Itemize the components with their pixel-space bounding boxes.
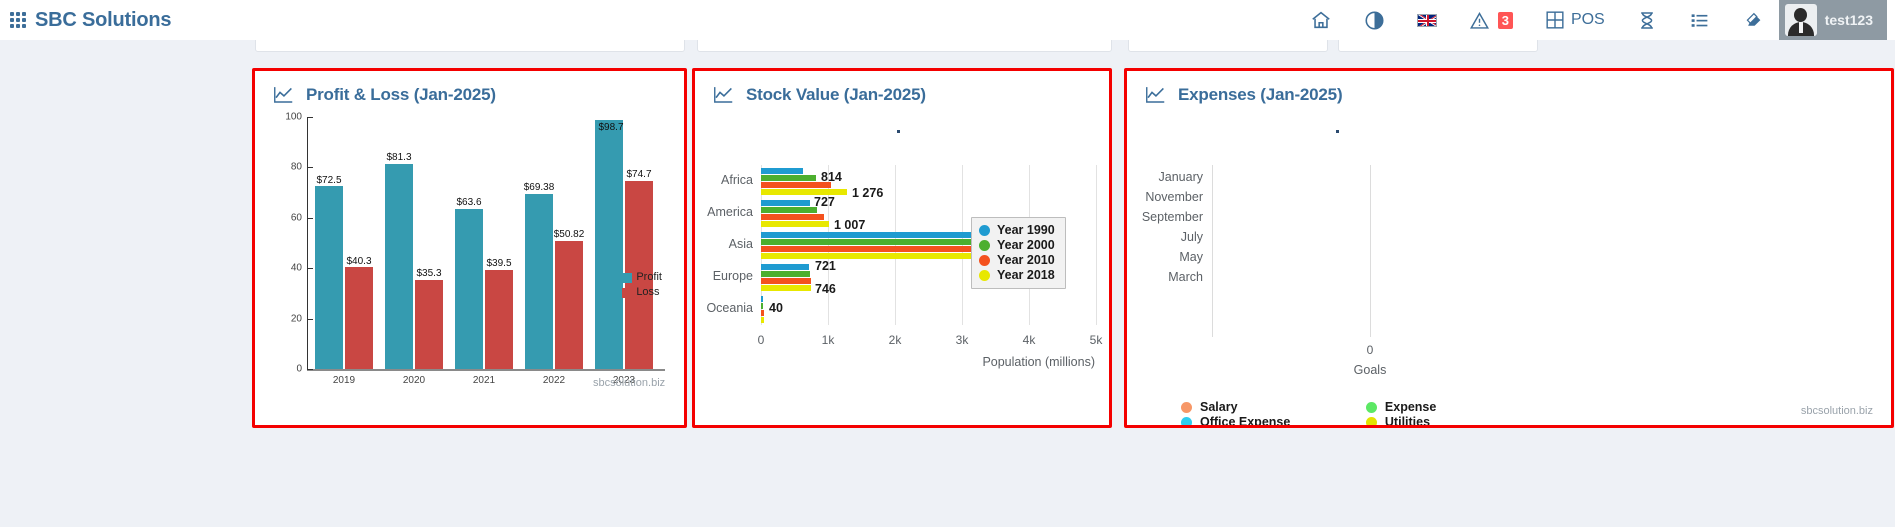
bar-profit[interactable]	[455, 209, 483, 369]
legend-swatch	[622, 288, 632, 298]
legend-label: Utilities	[1385, 415, 1430, 428]
legend-item-expense[interactable]: Expense	[1366, 400, 1478, 414]
app-header: SBC Solutions 3	[0, 0, 1895, 40]
legend-dot	[979, 255, 990, 266]
chart-marker-dot	[897, 130, 900, 133]
legend-label: Year 2018	[997, 268, 1055, 283]
legend-label: Year 2000	[997, 238, 1055, 253]
y-tick-label: Africa	[695, 173, 753, 187]
y-tick-label: 20	[291, 313, 302, 324]
bars-area: $72.5 $40.3 $81.3 $35.3 $63.6 $39.5 $69.…	[309, 117, 665, 369]
legend-column-right: Expense Utilities Rental Expense	[1366, 400, 1478, 428]
home-icon	[1310, 9, 1332, 31]
panel-profit-loss[interactable]: Profit & Loss (Jan-2025) 100 80 60 40	[252, 68, 687, 428]
bar-year-2010[interactable]	[761, 310, 764, 316]
panel-title-expenses: Expenses (Jan-2025)	[1127, 71, 1891, 105]
pos-button[interactable]: POS	[1529, 0, 1621, 40]
line-chart-icon	[273, 86, 294, 104]
bar-year-2000[interactable]	[761, 207, 817, 213]
brand-name: SBC Solutions	[35, 9, 171, 32]
bar-year-2018[interactable]	[761, 317, 764, 323]
header-toolbar: 3 POS	[1294, 0, 1887, 40]
x-tick-label: 2022	[543, 375, 565, 386]
list-icon	[1689, 10, 1710, 31]
y-tick-label: Europe	[695, 269, 753, 283]
bar-loss[interactable]	[555, 241, 583, 369]
bar-year-2018[interactable]	[761, 285, 811, 291]
hourglass-icon-button[interactable]	[1621, 0, 1673, 40]
legend-label: Office Expense	[1200, 415, 1290, 428]
bar-year-2000[interactable]	[761, 175, 816, 181]
dashboard-stage: Profit & Loss (Jan-2025) 100 80 60 40	[0, 40, 1895, 527]
panel-title-text: Profit & Loss (Jan-2025)	[306, 85, 496, 105]
list-icon-button[interactable]	[1673, 0, 1726, 40]
line-chart-icon	[1145, 86, 1166, 104]
bar-label: $81.3	[386, 152, 411, 163]
legend-dot	[1181, 402, 1192, 413]
legend-label: Expense	[1385, 400, 1436, 414]
legend-label: Year 1990	[997, 223, 1055, 238]
legend-item-year-1990[interactable]: Year 1990	[979, 223, 1055, 238]
expenses-chart: January November September July May Marc…	[1127, 105, 1891, 428]
pos-label: POS	[1571, 11, 1605, 29]
pos-icon	[1545, 10, 1565, 30]
contrast-icon	[1364, 10, 1385, 31]
bar-loss[interactable]	[415, 280, 443, 369]
profit-loss-chart: 100 80 60 40 20 0	[255, 105, 684, 428]
legend-item-year-2018[interactable]: Year 2018	[979, 268, 1055, 283]
x-tick-label: 4k	[1023, 333, 1036, 347]
x-axis-title: Goals	[1354, 363, 1387, 377]
x-tick-label: 2k	[889, 333, 902, 347]
bar-year-1990[interactable]	[761, 232, 975, 238]
grid-line	[895, 165, 896, 325]
grid-line	[1212, 165, 1213, 337]
legend-item-year-2000[interactable]: Year 2000	[979, 238, 1055, 253]
language-flag-icon	[1417, 14, 1437, 27]
x-tick-label: 2020	[403, 375, 425, 386]
panel-title-text: Expenses (Jan-2025)	[1178, 85, 1342, 105]
bar-label: $72.5	[316, 175, 341, 186]
y-tick-label: May	[1127, 250, 1203, 264]
bar-value-label: 1 276	[852, 186, 883, 200]
y-tick-label: 80	[291, 162, 302, 173]
bar-year-1990[interactable]	[761, 200, 810, 206]
bar-value-label: 746	[815, 282, 836, 296]
bar-label: $74.7	[626, 169, 651, 180]
y-tick-label: 0	[296, 364, 302, 375]
x-axis-title: Population (millions)	[982, 355, 1095, 369]
panel-title-profit-loss: Profit & Loss (Jan-2025)	[255, 71, 684, 105]
y-tick-label: Asia	[695, 237, 753, 251]
bar-label: $39.5	[486, 258, 511, 269]
bar-label: $35.3	[416, 268, 441, 279]
legend-dot	[979, 240, 990, 251]
chart-marker-dot	[1336, 130, 1339, 133]
bar-label: $40.3	[346, 256, 371, 267]
eraser-icon	[1742, 10, 1763, 31]
bar-loss[interactable]	[485, 270, 513, 370]
legend-item-utilities[interactable]: Utilities	[1366, 415, 1478, 428]
bar-year-1990[interactable]	[761, 168, 803, 174]
x-tick-label: 3k	[956, 333, 969, 347]
legend-label: Loss	[636, 285, 659, 300]
y-tick-label: July	[1127, 230, 1203, 244]
x-tick-label: 1k	[822, 333, 835, 347]
y-tick-label: 100	[285, 112, 302, 123]
bar-value-label: 814	[821, 170, 842, 184]
legend-label: Profit	[636, 270, 662, 285]
bar-year-1990[interactable]	[761, 296, 763, 302]
line-chart-icon	[713, 86, 734, 104]
bar-year-2010[interactable]	[761, 214, 824, 220]
bar-value-label: 1 007	[834, 218, 865, 232]
legend-column-left: Salary Office Expense Local Travel Commi…	[1181, 400, 1330, 428]
y-tick-label: 40	[291, 263, 302, 274]
x-tick-label: 0	[758, 333, 765, 347]
bar-year-2000[interactable]	[761, 303, 763, 309]
y-axis-line	[307, 117, 308, 369]
warning-count-badge: 3	[1498, 12, 1513, 29]
chart-legend[interactable]: Year 1990 Year 2000 Year 2010 Year 2018	[971, 217, 1066, 289]
bar-label: $69.38	[524, 182, 555, 193]
y-tick-label: Oceania	[695, 301, 753, 315]
legend-item-salary[interactable]: Salary	[1181, 400, 1330, 414]
y-tick-label: September	[1127, 210, 1203, 224]
avatar	[1785, 4, 1817, 36]
bar-profit[interactable]	[385, 164, 413, 369]
legend-label: Salary	[1200, 400, 1238, 414]
bar-value-label: 727	[814, 195, 835, 209]
eraser-icon-button[interactable]	[1726, 0, 1779, 40]
legend-dot	[979, 270, 990, 281]
legend-dot	[979, 225, 990, 236]
bar-loss[interactable]	[345, 267, 373, 369]
legend-dot	[1366, 402, 1377, 413]
y-tick-label: America	[695, 205, 753, 219]
x-axis-line	[307, 369, 665, 371]
warning-icon-button[interactable]: 3	[1453, 0, 1529, 40]
x-tick-label: 2019	[333, 375, 355, 386]
panel-expenses[interactable]: Expenses (Jan-2025) January November Sep…	[1124, 68, 1894, 428]
legend-item-office-expense[interactable]: Office Expense	[1181, 415, 1330, 428]
bar-year-2018[interactable]	[761, 221, 829, 227]
y-tick-label: 60	[291, 212, 302, 223]
bar-profit[interactable]	[595, 120, 623, 369]
bar-year-1990[interactable]	[761, 264, 809, 270]
grid-line	[1370, 165, 1371, 337]
bar-value-label: 721	[815, 259, 836, 273]
watermark: sbcsolution.biz	[1801, 405, 1873, 417]
grid-line	[962, 165, 963, 325]
warning-icon	[1469, 10, 1490, 31]
legend-dot	[1181, 417, 1192, 428]
bar-profit[interactable]	[525, 194, 553, 369]
bar-label: $98.7	[598, 122, 623, 133]
legend-label: Year 2010	[997, 253, 1055, 268]
contrast-icon-button[interactable]	[1348, 0, 1401, 40]
legend-item-profit[interactable]: Profit	[622, 270, 662, 285]
user-name: test123	[1825, 12, 1873, 28]
brand[interactable]: SBC Solutions	[10, 9, 171, 32]
bar-year-2010[interactable]	[761, 278, 811, 284]
legend-dot	[1366, 417, 1377, 428]
panel-title-stock-value: Stock Value (Jan-2025)	[695, 71, 1109, 105]
x-tick-label: 2021	[473, 375, 495, 386]
panel-stock-value[interactable]: Stock Value (Jan-2025) Africa America As…	[692, 68, 1112, 428]
stock-value-chart: Africa America Asia Europe Oceania 814 1…	[695, 105, 1109, 428]
bar-label: $50.82	[554, 229, 585, 240]
user-menu[interactable]: test123	[1779, 0, 1887, 40]
y-tick-label: March	[1127, 270, 1203, 284]
home-icon-button[interactable]	[1294, 0, 1348, 40]
grid-icon	[10, 12, 26, 28]
chart-legend[interactable]: Salary Office Expense Local Travel Commi…	[1181, 400, 1478, 428]
bar-profit[interactable]	[315, 186, 343, 369]
watermark: sbcsolution.biz	[593, 377, 665, 389]
y-tick-label: November	[1127, 190, 1203, 204]
bar-year-2000[interactable]	[761, 271, 810, 277]
hourglass-icon	[1637, 10, 1657, 31]
x-tick-label: 0	[1367, 343, 1374, 357]
grid-line	[1096, 165, 1097, 325]
legend-item-year-2010[interactable]: Year 2010	[979, 253, 1055, 268]
x-tick-label: 5k	[1090, 333, 1103, 347]
bar-label: $63.6	[456, 197, 481, 208]
panel-title-text: Stock Value (Jan-2025)	[746, 85, 926, 105]
legend-item-loss[interactable]: Loss	[622, 285, 662, 300]
chart-legend[interactable]: Profit Loss	[622, 270, 662, 300]
bar-value-label: 40	[769, 301, 783, 315]
language-flag-icon-button[interactable]	[1401, 0, 1453, 40]
legend-swatch	[622, 273, 632, 283]
y-tick-label: January	[1127, 170, 1203, 184]
